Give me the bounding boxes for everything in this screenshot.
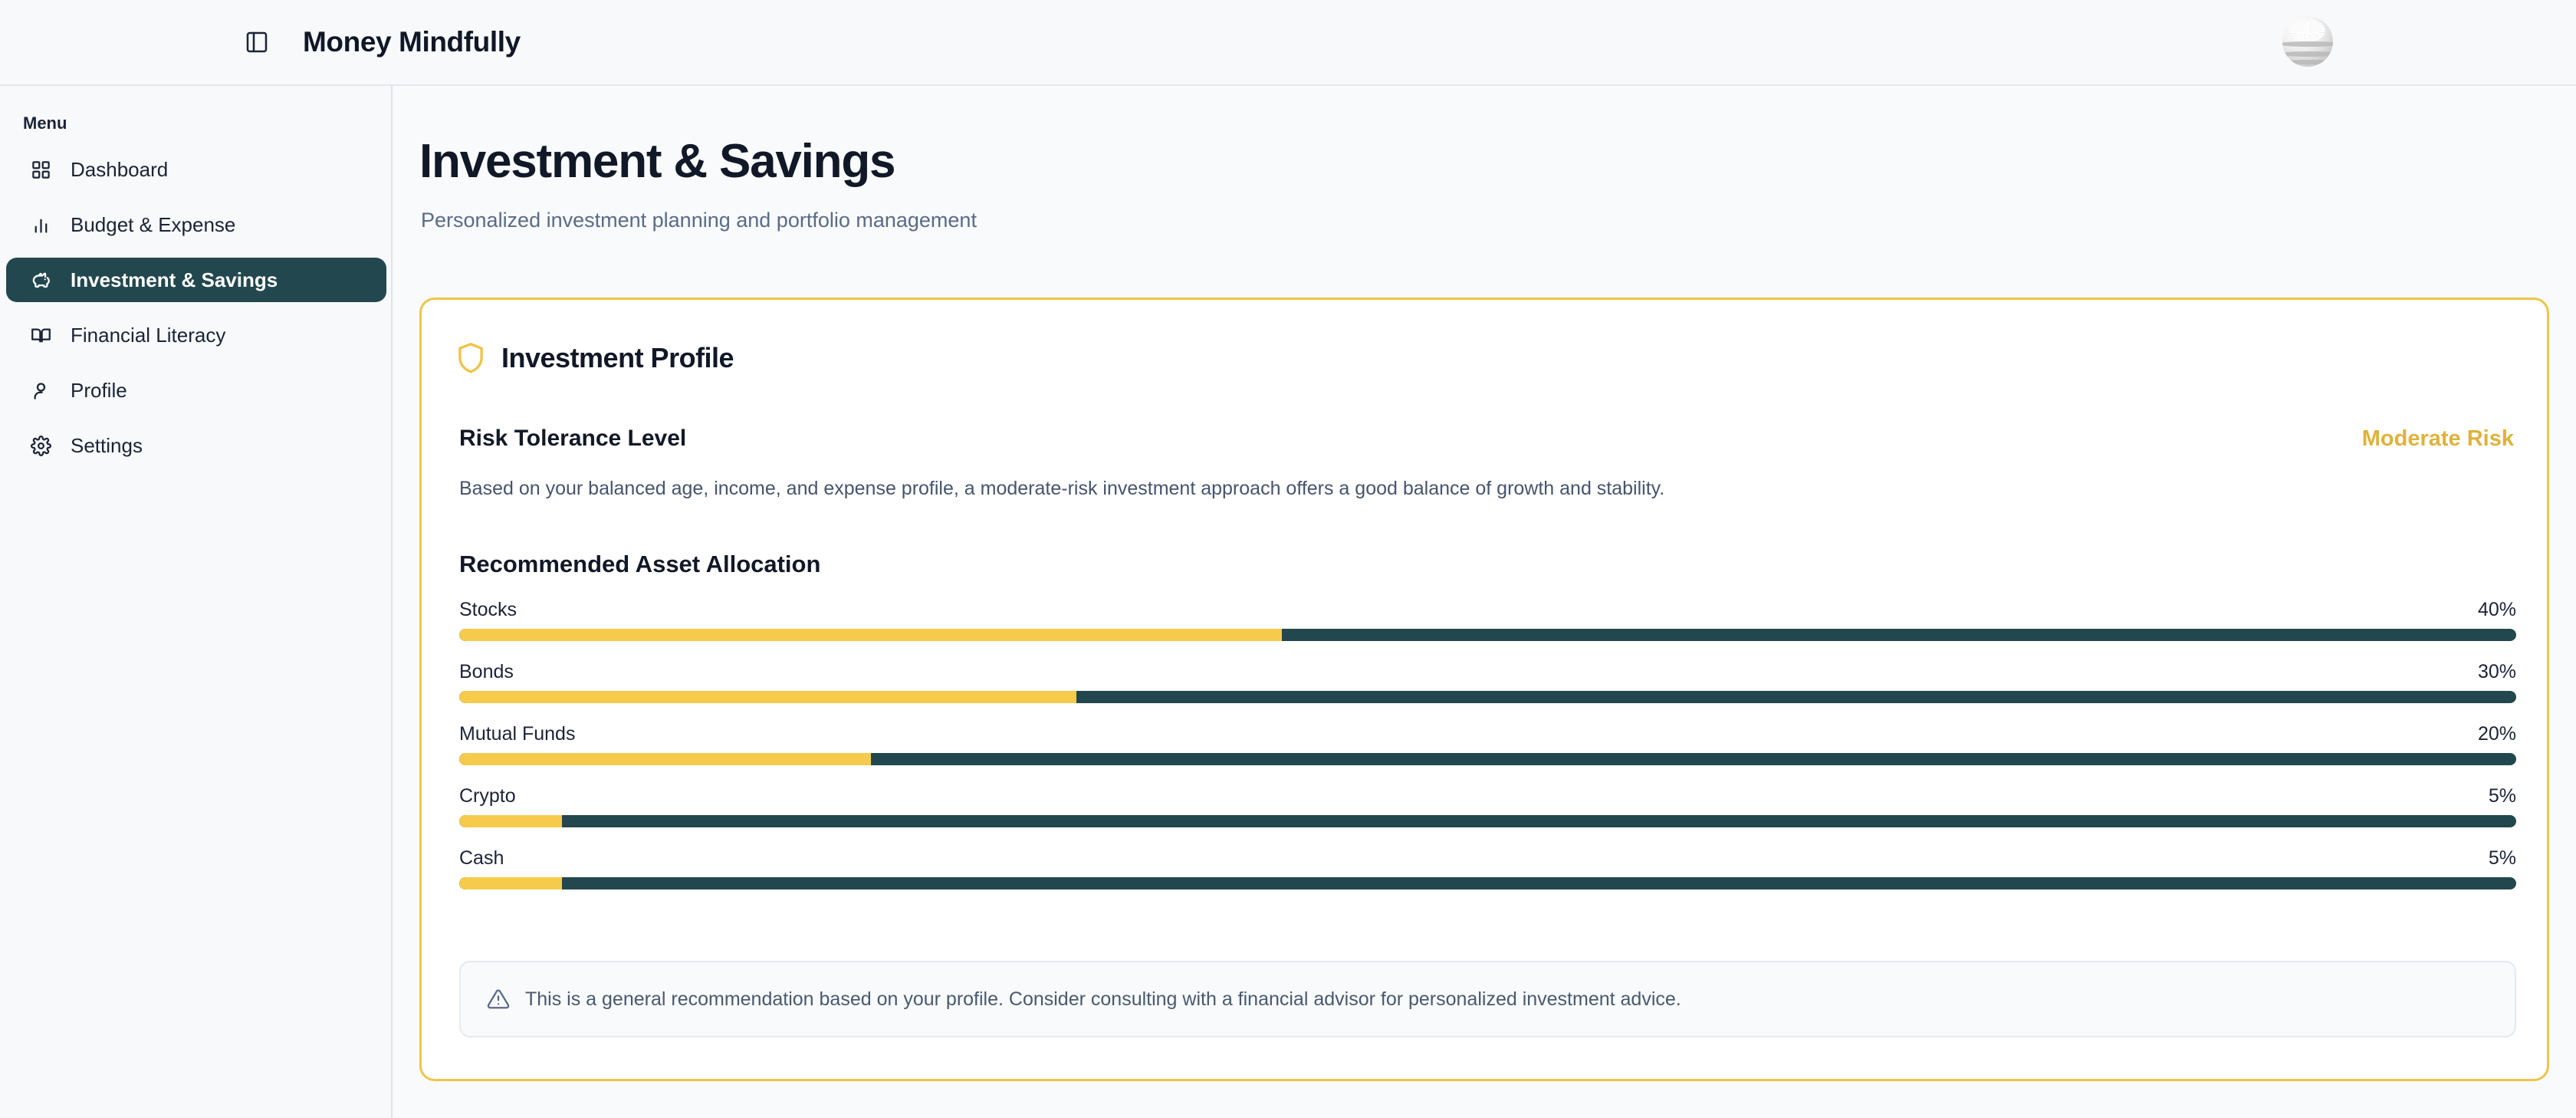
risk-description: Based on your balanced age, income, and … [459, 478, 1664, 500]
shield-icon [455, 341, 486, 375]
allocation-bar-fill [459, 629, 1282, 641]
sidebar-item-label: Financial Literacy [71, 325, 225, 345]
avatar-dome [2290, 19, 2325, 42]
avatar-band [2282, 60, 2333, 64]
allocation-percent: 20% [2478, 723, 2516, 745]
allocation-bar-fill [459, 815, 562, 827]
allocation-percent: 5% [2489, 785, 2516, 807]
disclaimer-text: This is a general recommendation based o… [525, 988, 1681, 1011]
risk-tolerance-label: Risk Tolerance Level [459, 426, 686, 452]
page-subtitle: Personalized investment planning and por… [421, 209, 977, 232]
allocation-bar-track [459, 877, 2516, 889]
allocation-bar-fill [459, 753, 871, 765]
allocation-percent: 5% [2489, 847, 2516, 870]
main-content: Investment & Savings Personalized invest… [394, 86, 2576, 1118]
allocation-row-bonds: Bonds 30% [459, 661, 2516, 703]
allocation-name: Bonds [459, 661, 514, 683]
allocation-bar-track [459, 815, 2516, 827]
panel-left-icon [245, 30, 269, 54]
sidebar-item-label: Settings [71, 436, 143, 455]
sidebar-item-label: Budget & Expense [71, 215, 235, 235]
risk-level-badge: Moderate Risk [2362, 426, 2514, 452]
sidebar-item-dashboard[interactable]: Dashboard [6, 147, 386, 192]
layout-grid-icon [28, 156, 54, 182]
allocation-bar-track [459, 753, 2516, 765]
allocation-bar-fill [459, 877, 562, 889]
allocation-name: Stocks [459, 599, 517, 621]
allocation-row-header: Crypto 5% [459, 785, 2516, 807]
allocation-row-stocks: Stocks 40% [459, 599, 2516, 641]
sidebar-item-investment-savings[interactable]: Investment & Savings [6, 258, 386, 302]
sidebar: Menu Dashboard B [0, 86, 393, 1118]
page-title: Investment & Savings [419, 134, 895, 189]
risk-tolerance-row: Risk Tolerance Level Moderate Risk [459, 426, 2514, 452]
avatar[interactable] [2279, 13, 2336, 70]
sidebar-toggle-button[interactable] [239, 25, 274, 60]
top-bar: Money Mindfully [0, 0, 2576, 86]
allocation-percent: 30% [2478, 661, 2516, 683]
disclaimer-note: This is a general recommendation based o… [459, 961, 2516, 1037]
alert-triangle-icon [487, 988, 510, 1011]
sidebar-item-label: Profile [71, 380, 127, 400]
allocation-list: Stocks 40% Bonds 30% Mutual Funds [459, 599, 2516, 889]
allocation-name: Mutual Funds [459, 723, 575, 745]
allocation-name: Cash [459, 847, 504, 870]
gear-icon [28, 432, 54, 459]
allocation-row-cash: Cash 5% [459, 847, 2516, 889]
allocation-row-mutual-funds: Mutual Funds 20% [459, 723, 2516, 765]
allocation-row-header: Bonds 30% [459, 661, 2516, 683]
avatar-image [2282, 16, 2333, 67]
card-title: Investment Profile [501, 342, 734, 374]
allocation-row-crypto: Crypto 5% [459, 785, 2516, 827]
card-header: Investment Profile [455, 341, 734, 375]
sidebar-item-settings[interactable]: Settings [6, 423, 386, 468]
allocation-percent: 40% [2478, 599, 2516, 621]
sidebar-item-financial-literacy[interactable]: Financial Literacy [6, 313, 386, 357]
allocation-row-header: Cash 5% [459, 847, 2516, 870]
bar-chart-icon [28, 212, 54, 238]
allocation-row-header: Stocks 40% [459, 599, 2516, 621]
sidebar-item-profile[interactable]: Profile [6, 368, 386, 413]
book-open-icon [28, 322, 54, 348]
user-icon [28, 377, 54, 403]
allocation-bar-track [459, 691, 2516, 703]
sidebar-item-label: Dashboard [71, 159, 168, 179]
allocation-bar-fill [459, 691, 1076, 703]
allocation-bar-track [459, 629, 2516, 641]
allocation-heading: Recommended Asset Allocation [459, 551, 820, 578]
sidebar-heading: Menu [23, 113, 67, 133]
avatar-band [2282, 41, 2333, 47]
allocation-name: Crypto [459, 785, 516, 807]
sidebar-nav: Dashboard Budget & Expense [6, 147, 386, 478]
investment-profile-card: Investment Profile Risk Tolerance Level … [419, 298, 2549, 1081]
sidebar-item-budget-expense[interactable]: Budget & Expense [6, 202, 386, 247]
sidebar-item-label: Investment & Savings [71, 270, 278, 290]
app-brand-title: Money Mindfully [303, 26, 521, 58]
piggy-bank-icon [28, 267, 54, 293]
allocation-row-header: Mutual Funds 20% [459, 723, 2516, 745]
avatar-band [2282, 51, 2333, 57]
